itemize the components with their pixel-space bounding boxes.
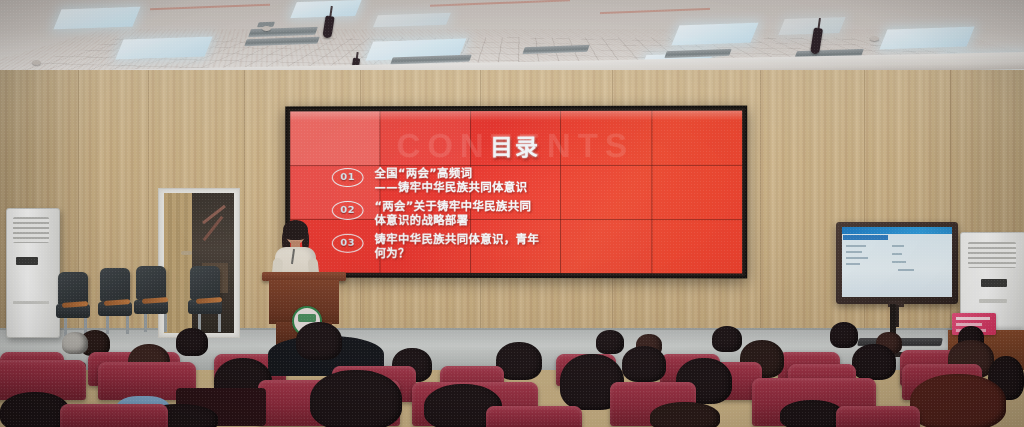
ceiling (0, 0, 1024, 78)
attendee-head-foreground (310, 370, 402, 427)
desktop-monitor[interactable] (836, 222, 958, 308)
ceiling-rail (600, 8, 710, 14)
ceiling-panel-light (778, 17, 845, 35)
window-title-bar (842, 227, 952, 234)
ac-display-panel (16, 257, 38, 265)
ceiling-panel-light (115, 36, 212, 59)
ceiling-rail (430, 0, 570, 7)
attendee-head (622, 346, 666, 382)
toc-number-badge: 03 (332, 234, 364, 253)
audience-seating (0, 318, 1024, 427)
slide-title: 目录 (290, 128, 742, 162)
seat[interactable] (836, 406, 920, 427)
ac-vent-grille (968, 242, 1016, 268)
wall-seam (760, 70, 761, 355)
ac-outlet-slot (13, 301, 49, 304)
smoke-detector-icon (870, 36, 879, 41)
toc-line-2: 何为？ (374, 247, 539, 261)
attendee-head (596, 330, 624, 354)
toc-line-2: 体意识的战略部署 (374, 214, 531, 228)
selected-list-row[interactable] (843, 235, 888, 240)
ac-display-panel (981, 279, 1007, 287)
toc-line-1: 铸牢中华民族共同体意识，青年 (374, 233, 539, 247)
background-clutter (202, 205, 226, 225)
attendee-head (296, 322, 342, 360)
toc-item: 03 铸牢中华民族共同体意识，青年 何为？ (332, 233, 732, 261)
toc-number-badge: 02 (332, 201, 364, 220)
toc-line-1: 全国“两会”高频词 (374, 167, 527, 181)
ac-brand-mark (979, 299, 1007, 303)
slide-contents-list: 01 全国“两会”高频词 ——铸牢中华民族共同体意识 02 “两会”关于铸牢中华… (332, 167, 732, 267)
toc-line-2: ——铸牢中华民族共同体意识 (374, 181, 527, 195)
toc-item: 02 “两会”关于铸牢中华民族共同 体意识的战略部署 (332, 200, 732, 227)
ceiling-panel-light (879, 26, 974, 49)
toc-item: 01 全国“两会”高频词 ——铸牢中华民族共同体意识 (332, 167, 732, 194)
seat[interactable] (60, 404, 168, 427)
toc-item-text: “两会”关于铸牢中华民族共同 体意识的战略部署 (374, 200, 531, 227)
door-handle[interactable] (181, 251, 192, 255)
monitor-screen[interactable] (842, 227, 952, 297)
smoke-detector-icon (32, 60, 41, 65)
auditorium-photo: CONTENTS 目录 01 全国“两会”高频词 ——铸牢中华民族共同体意识 0… (0, 0, 1024, 427)
ceiling-rail (150, 4, 270, 11)
attendee-head (62, 332, 88, 354)
ceiling-panel-light (671, 23, 758, 46)
attendee-head (712, 326, 742, 352)
video-wall-screen: CONTENTS 目录 01 全国“两会”高频词 ——铸牢中华民族共同体意识 0… (290, 111, 742, 274)
ac-vent-grille (13, 217, 49, 243)
wall-seam (864, 70, 865, 355)
wall-seam (244, 70, 245, 355)
toc-line-1: “两会”关于铸牢中华民族共同 (374, 200, 531, 214)
attendee-head (830, 322, 858, 348)
attendee-head (852, 344, 896, 380)
toc-item-text: 全国“两会”高频词 ——铸牢中华民族共同体意识 (374, 167, 527, 194)
seat[interactable] (486, 406, 582, 427)
attendee-head-foreground (650, 402, 720, 427)
attendee-head-foreground (910, 374, 1006, 427)
toc-number-badge: 01 (332, 168, 364, 187)
toc-item-text: 铸牢中华民族共同体意识，青年 何为？ (374, 233, 539, 260)
wall-seam (950, 70, 951, 355)
smoke-detector-icon (262, 26, 271, 31)
screen-glare (290, 111, 742, 122)
led-video-wall[interactable]: CONTENTS 目录 01 全国“两会”高频词 ——铸牢中华民族共同体意识 0… (285, 106, 747, 279)
attendee-head-foreground (780, 400, 844, 427)
presenter-hair (283, 220, 308, 240)
ceiling-panel-light (373, 13, 451, 28)
attendee-head (176, 328, 208, 356)
ceiling-panel-light (53, 7, 140, 30)
